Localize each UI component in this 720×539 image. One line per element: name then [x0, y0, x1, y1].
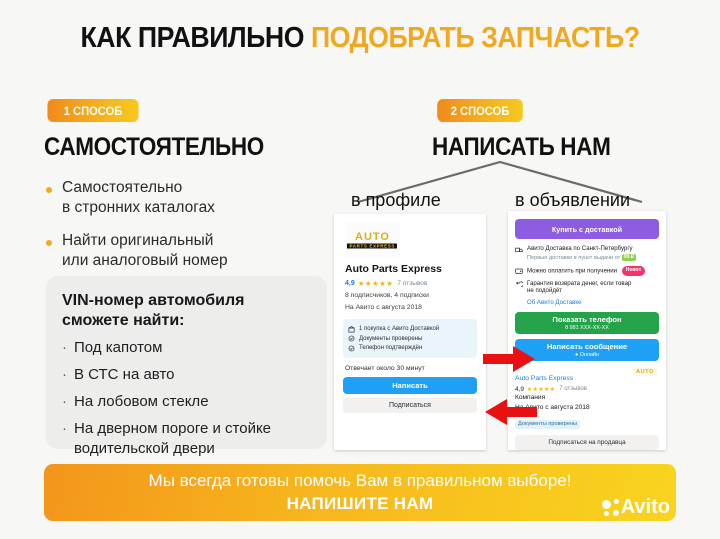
- cta-banner: Мы всегда готовы помочь Вам в правильном…: [44, 464, 676, 521]
- show-phone-label: Показать телефон: [552, 315, 621, 324]
- vin-card-title: VIN-номер автомобиля сможете найти:: [62, 291, 311, 331]
- badge-method-1-label: 1 СПОСОБ: [64, 104, 123, 118]
- bullet-text: Найти оригинальный или аналоговый номер: [62, 231, 228, 271]
- about-delivery-link[interactable]: Об Авито Доставке: [527, 299, 659, 306]
- shop-logo: AUTO PARTS EXPRESS: [345, 222, 400, 258]
- arrow-right-icon: [483, 344, 537, 374]
- bullet-dot-icon: ·: [62, 338, 67, 358]
- vin-item-text: На дверном пороге и стойке водительской …: [74, 419, 271, 459]
- delivery-info-row: Авито Доставка по Санкт-Петербургу Первы…: [515, 245, 659, 262]
- bullet-dot-icon: ·: [62, 419, 67, 439]
- followers-count: 8 подписчиков, 4 подписки: [345, 291, 486, 300]
- return-arrow-icon: [515, 281, 523, 289]
- bullet-dot-icon: [46, 187, 52, 193]
- show-phone-button[interactable]: Показать телефон 8 981 XXX-XX-XX: [515, 312, 659, 334]
- answer-time: Отвечает около 30 минут: [345, 365, 486, 372]
- check-circle-icon: [348, 335, 355, 342]
- heading-method-1: САМОСТОЯТЕЛЬНО: [44, 133, 264, 162]
- trust-row: 1 покупка с Авито Доставкой: [348, 326, 472, 333]
- star-rating-icon: ★★★★★: [527, 386, 555, 393]
- avito-wordmark: Avito: [621, 496, 670, 519]
- avito-dots-icon: [602, 499, 619, 516]
- profile-screenshot-card: AUTO PARTS EXPRESS Auto Parts Express 4,…: [334, 214, 486, 450]
- online-status: ● Онлайн: [575, 352, 599, 358]
- delivery-info-row: Гарантия возврата денег, если товар не п…: [515, 280, 659, 295]
- subscribe-seller-button[interactable]: Подписаться на продавца: [515, 435, 659, 450]
- delivery-main-text: Можно оплатить при получении Новое: [527, 266, 645, 276]
- star-rating-icon: ★★★★★: [358, 279, 394, 288]
- page-title-accent: ПОДОБРАТЬ ЗАПЧАСТЬ?: [311, 22, 640, 54]
- wallet-icon: [515, 267, 523, 275]
- delivery-main-text: Гарантия возврата денег, если товар не п…: [527, 280, 631, 295]
- trust-row: Документы проверены: [348, 335, 472, 342]
- list-item: · В СТС на авто: [62, 365, 311, 385]
- delivery-sub-text: Первые доставки в пункт выдачи от 99 ₽: [527, 254, 636, 263]
- page-title-black: КАК ПРАВИЛЬНО: [80, 22, 310, 54]
- delivery-info-row: Можно оплатить при получении Новое: [515, 266, 659, 276]
- bullet-dot-icon: ·: [62, 365, 67, 385]
- new-badge: Новое: [622, 266, 646, 276]
- delivery-box-icon: [348, 326, 355, 333]
- vin-info-card: VIN-номер автомобиля сможете найти: · По…: [46, 276, 327, 449]
- truck-icon: [515, 246, 523, 254]
- promo-poster: КАК ПРАВИЛЬНО ПОДОБРАТЬ ЗАПЧАСТЬ? 1 СПОС…: [0, 0, 720, 539]
- seller-rating-value: 4,9: [515, 386, 524, 393]
- rating-value: 4,9: [345, 280, 355, 287]
- trust-text: Телефон подтверждён: [359, 345, 422, 351]
- badge-method-2-label: 2 СПОСОБ: [451, 104, 510, 118]
- seller-reviews-count[interactable]: 7 отзывов: [559, 386, 587, 392]
- shop-logo-sub: PARTS EXPRESS: [347, 244, 397, 249]
- price-pill: 99 ₽: [622, 254, 636, 261]
- list-item: · Под капотом: [62, 338, 311, 358]
- cta-line-2: НАПИШИТЕ НАМ: [287, 494, 434, 514]
- list-item: Самостоятельно в стронних каталогах: [46, 178, 346, 218]
- sublabel-advert: в объявлении: [515, 190, 630, 211]
- bullet-text: Самостоятельно в стронних каталогах: [62, 178, 215, 218]
- bullet-dot-icon: [46, 240, 52, 246]
- page-title: КАК ПРАВИЛЬНО ПОДОБРАТЬ ЗАПЧАСТЬ?: [29, 22, 691, 55]
- bullet-dot-icon: ·: [62, 392, 67, 412]
- member-since: На Авито с августа 2018: [345, 303, 486, 312]
- cta-line-1: Мы всегда готовы помочь Вам в правильном…: [149, 471, 572, 491]
- delivery-sub-label: Первые доставки в пункт выдачи от: [527, 255, 620, 261]
- shop-name: Auto Parts Express: [345, 263, 486, 275]
- seller-logo: AUTO: [633, 368, 657, 376]
- left-bullet-list: Самостоятельно в стронних каталогах Найт…: [46, 178, 346, 284]
- list-item: · На дверном пороге и стойке водительско…: [62, 419, 311, 459]
- vin-item-text: Под капотом: [74, 338, 162, 358]
- reviews-count[interactable]: 7 отзывов: [397, 280, 427, 287]
- seller-name-link[interactable]: Auto Parts Express: [515, 375, 573, 382]
- check-circle-icon: [348, 345, 355, 352]
- rating-row: 4,9 ★★★★★ 7 отзывов: [345, 279, 486, 288]
- list-item: · На лобовом стекле: [62, 392, 311, 412]
- sublabel-profile: в профиле: [351, 190, 441, 211]
- write-message-label: Написать сообщение: [547, 342, 627, 351]
- list-item: Найти оригинальный или аналоговый номер: [46, 231, 346, 271]
- seller-rating-row: 4,9 ★★★★★ 7 отзывов: [515, 386, 659, 393]
- vin-item-text: В СТС на авто: [74, 365, 175, 385]
- vin-item-text: На лобовом стекле: [74, 392, 209, 412]
- delivery-main-label: Можно оплатить при получении: [527, 268, 617, 275]
- write-message-button[interactable]: Написать: [343, 377, 477, 394]
- subscribe-button[interactable]: Подписаться: [343, 398, 477, 413]
- badge-method-1: 1 СПОСОБ: [47, 99, 138, 122]
- trust-text: 1 покупка с Авито Доставкой: [359, 326, 439, 332]
- arrow-left-icon: [483, 398, 537, 426]
- avito-logo: Avito: [602, 496, 670, 519]
- buy-with-delivery-button[interactable]: Купить с доставкой: [515, 219, 659, 239]
- shop-logo-main: AUTO: [355, 232, 390, 243]
- badge-method-2: 2 СПОСОБ: [437, 99, 523, 122]
- trust-text: Документы проверены: [359, 336, 422, 342]
- trust-badges-box: 1 покупка с Авито Доставкой Документы пр…: [343, 319, 477, 358]
- phone-number: 8 981 XXX-XX-XX: [565, 325, 609, 331]
- delivery-main-text: Авито Доставка по Санкт-Петербургу: [527, 245, 636, 253]
- trust-row: Телефон подтверждён: [348, 345, 472, 352]
